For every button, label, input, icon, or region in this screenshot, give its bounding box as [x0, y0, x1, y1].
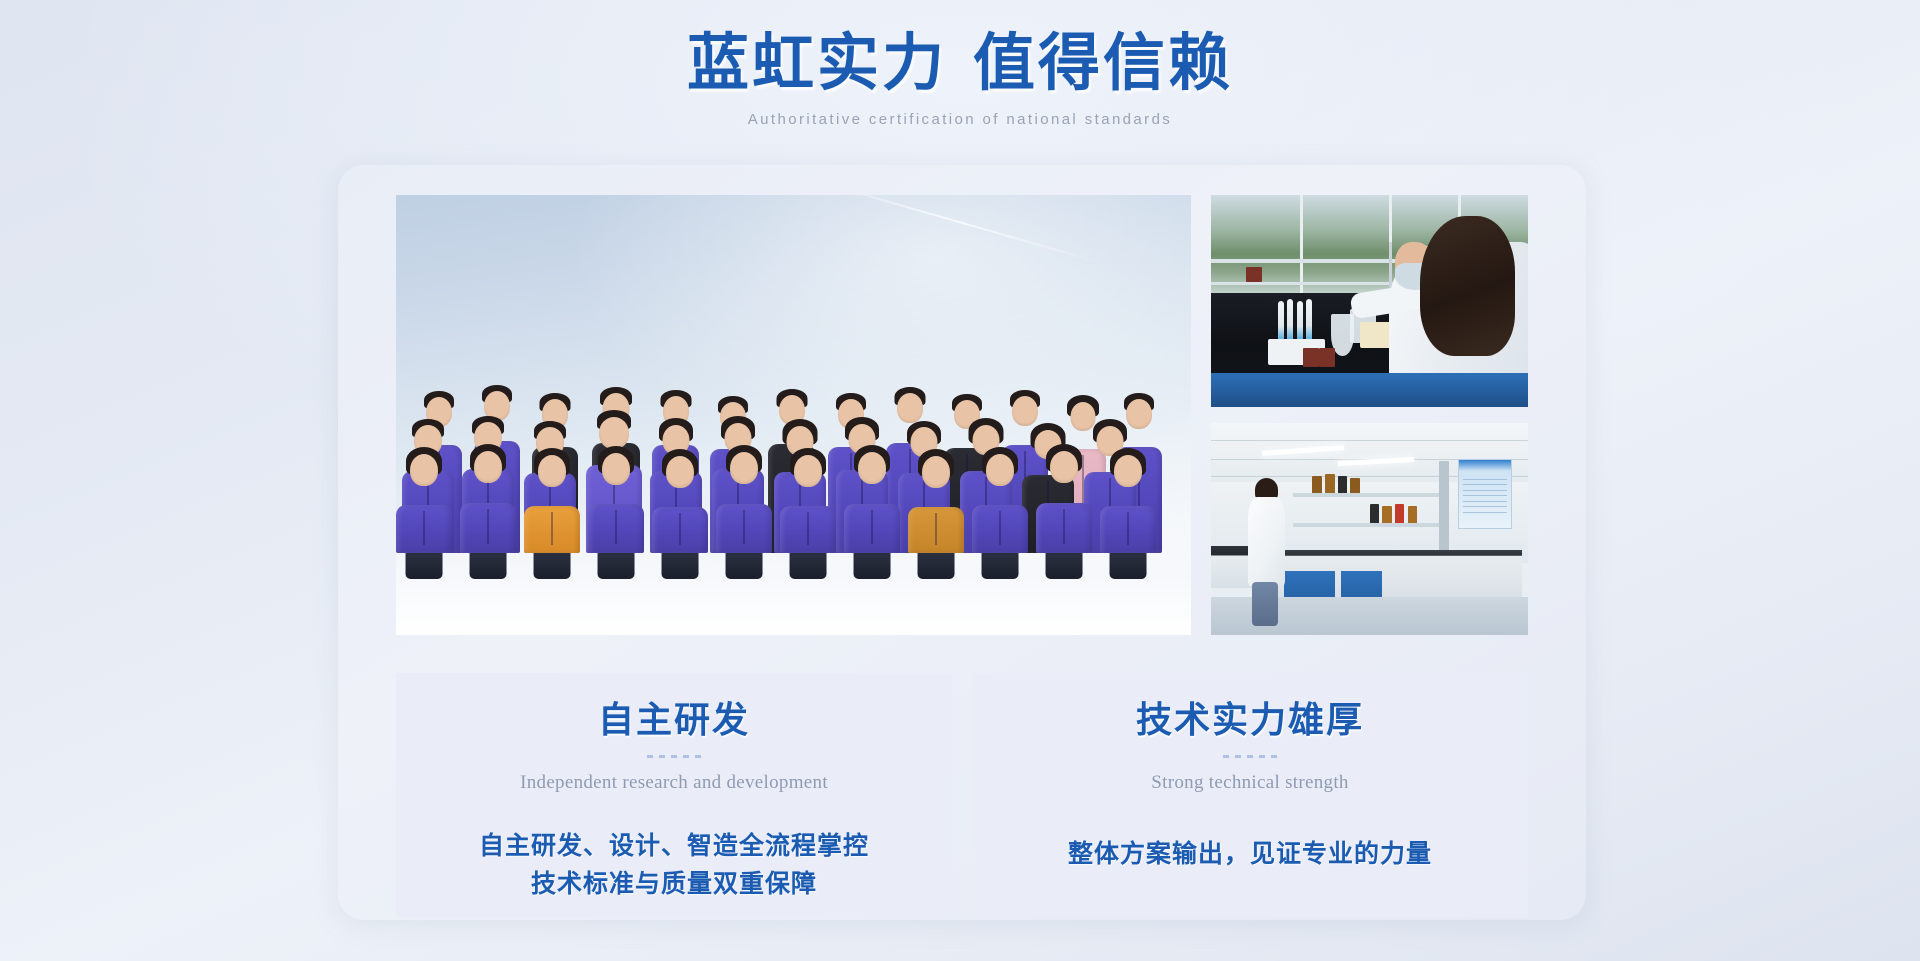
card-body: 自主研发、设计、智造全流程掌控 技术标准与质量双重保障 — [396, 828, 952, 906]
ceiling-tile-line — [1211, 440, 1528, 441]
card-body-line2: 技术标准与质量双重保障 — [396, 866, 952, 905]
card-body: 整体方案输出，见证专业的力量 — [972, 836, 1528, 875]
window-mullion — [1300, 195, 1303, 293]
card-title: 技术实力雄厚 — [972, 701, 1528, 741]
reagent-bottle — [1408, 506, 1418, 523]
pipette — [1306, 299, 1312, 344]
panel-inner: 自主研发 Independent research and developmen… — [396, 195, 1528, 884]
safety-poster — [1458, 459, 1512, 529]
card-body-line1: 自主研发、设计、智造全流程掌控 — [396, 828, 952, 867]
content-panel: 自主研发 Independent research and developmen… — [338, 165, 1586, 920]
pipette — [1297, 301, 1303, 343]
page-header: 蓝虹实力值得信赖 Authoritative certification of … — [0, 0, 1920, 128]
card-divider — [647, 755, 701, 758]
worker-coat — [1248, 497, 1286, 586]
bench-base-panel — [1211, 373, 1528, 407]
reagent-shelf — [1293, 493, 1445, 497]
reagent-bottle — [1350, 478, 1360, 493]
team-group-photo[interactable] — [396, 195, 1191, 635]
reagent-bottle — [1395, 504, 1405, 523]
feature-cards: 自主研发 Independent research and developmen… — [396, 673, 1528, 918]
technician-hair — [1420, 216, 1515, 356]
worker-jeans — [1252, 582, 1278, 627]
feature-card-independent-rnd[interactable]: 自主研发 Independent research and developmen… — [396, 673, 952, 918]
media-grid — [396, 195, 1528, 635]
card-subtitle: Strong technical strength — [972, 772, 1528, 794]
card-title: 自主研发 — [396, 701, 952, 741]
lab-technician-scene — [1211, 195, 1528, 407]
feature-card-technical-strength[interactable]: 技术实力雄厚 Strong technical strength 整体方案输出，… — [972, 673, 1528, 918]
reagent-bottle — [1338, 476, 1348, 493]
pipette — [1278, 301, 1284, 343]
reagent-shelf — [1293, 523, 1445, 527]
reagent-bottle — [1319, 348, 1335, 367]
pipette — [1287, 299, 1293, 344]
reagent-bottle — [1246, 267, 1262, 282]
reagent-bottle — [1370, 504, 1380, 523]
card-divider — [1223, 755, 1277, 758]
card-body-line1: 整体方案输出，见证专业的力量 — [972, 836, 1528, 875]
lab-technician-photo[interactable] — [1211, 195, 1528, 407]
lab-worker — [1246, 478, 1287, 626]
fume-hood-column — [1439, 461, 1449, 563]
page-subtitle: Authoritative certification of national … — [0, 111, 1920, 128]
reagent-bottle — [1325, 474, 1335, 493]
page-title: 蓝虹实力值得信赖 — [0, 30, 1920, 99]
card-subtitle: Independent research and development — [396, 772, 952, 794]
page-title-part2: 值得信赖 — [973, 30, 1233, 98]
page-title-part1: 蓝虹实力 — [687, 30, 947, 98]
laboratory-room-photo[interactable] — [1211, 423, 1528, 635]
reagent-bottle — [1382, 506, 1392, 523]
laboratory-room-scene — [1211, 423, 1528, 635]
reagent-bottle — [1312, 476, 1322, 493]
crowd-figures — [396, 293, 1191, 553]
reagent-bottle — [1303, 348, 1319, 367]
